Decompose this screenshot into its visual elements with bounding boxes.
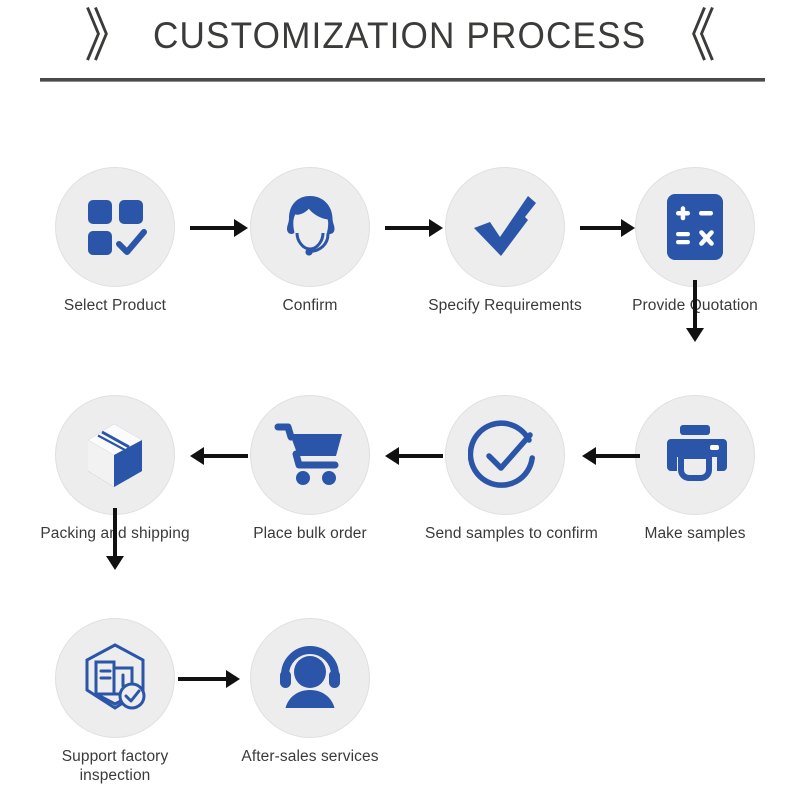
package-box-icon <box>78 418 152 492</box>
step-icon-circle <box>55 395 175 515</box>
shield-document-check-icon <box>77 640 153 716</box>
arrow-step3-to-step4 <box>580 218 635 238</box>
shopping-cart-icon <box>274 421 346 489</box>
flow-step-label: Make samples <box>615 524 775 543</box>
flow-step-label: Select Product <box>35 296 195 315</box>
checkmark-icon <box>468 190 542 264</box>
flow-step-label: Confirm <box>230 296 390 315</box>
process-flow-diagram: Select Product Confirm Specify Requirem <box>0 100 800 800</box>
title-divider <box>40 78 765 82</box>
step-icon-circle <box>250 618 370 738</box>
flow-step-label: Specify Requirements <box>425 296 585 315</box>
arrow-step8-to-step9 <box>105 508 125 570</box>
flow-step-label: Support factory inspection <box>35 747 195 786</box>
arrow-step9-to-step10 <box>178 669 240 689</box>
flow-step-after-sales-services[interactable]: After-sales services <box>230 618 390 766</box>
step-icon-circle <box>445 167 565 287</box>
page-title: CUSTOMIZATION PROCESS <box>153 15 646 57</box>
step-icon-circle <box>635 167 755 287</box>
arrow-step2-to-step3 <box>385 218 443 238</box>
flow-step-send-samples-to-confirm[interactable]: Send samples to confirm <box>425 395 585 543</box>
flow-step-select-product[interactable]: Select Product <box>35 167 195 315</box>
flow-step-label: After-sales services <box>230 747 390 766</box>
arrow-step7-to-step8 <box>190 446 248 466</box>
flow-step-confirm[interactable]: Confirm <box>230 167 390 315</box>
support-person-icon <box>275 645 345 711</box>
step-icon-circle <box>250 395 370 515</box>
page-header: 》 CUSTOMIZATION PROCESS 《 <box>0 0 800 100</box>
arrow-step6-to-step7 <box>385 446 443 466</box>
step-icon-circle <box>55 167 175 287</box>
headset-agent-icon <box>274 191 346 263</box>
calculator-icon <box>663 191 727 263</box>
step-icon-circle <box>445 395 565 515</box>
flow-step-make-samples[interactable]: Make samples <box>615 395 775 543</box>
flow-step-support-factory-inspection[interactable]: Support factory inspection <box>35 618 195 786</box>
flow-step-place-bulk-order[interactable]: Place bulk order <box>230 395 390 543</box>
double-chevron-left-icon: 《 <box>666 7 716 65</box>
step-icon-circle <box>635 395 755 515</box>
printer-icon <box>661 423 729 487</box>
arrow-step5-to-step6 <box>582 446 640 466</box>
title-row: 》 CUSTOMIZATION PROCESS 《 <box>0 0 800 72</box>
step-icon-circle <box>55 618 175 738</box>
grid-check-icon <box>82 194 148 260</box>
double-chevron-right-icon: 》 <box>84 7 134 65</box>
flow-step-specify-requirements[interactable]: Specify Requirements <box>425 167 585 315</box>
step-icon-circle <box>250 167 370 287</box>
check-circle-icon <box>468 418 542 492</box>
flow-step-label: Place bulk order <box>230 524 390 543</box>
arrow-step4-to-step5 <box>685 280 705 342</box>
arrow-step1-to-step2 <box>190 218 248 238</box>
flow-step-label: Send samples to confirm <box>425 524 585 543</box>
